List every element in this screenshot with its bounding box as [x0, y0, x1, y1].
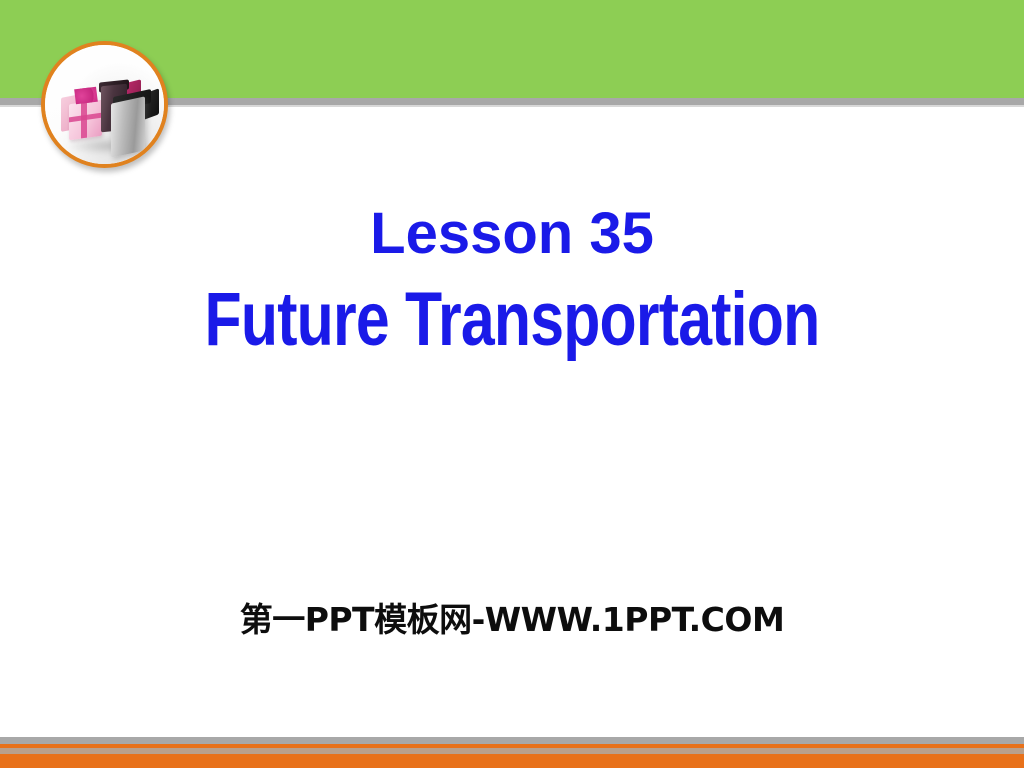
bottom-orange-band [0, 754, 1024, 768]
logo-badge-circle [41, 41, 168, 168]
gift-ribbon-vertical [81, 102, 87, 139]
lesson-number-title: Lesson 35 [0, 196, 1024, 272]
gift-bow-icon [74, 87, 98, 105]
presentation-slide: Lesson 35 Future Transportation 第一PPT模板网… [0, 0, 1024, 768]
gift-box-silver [111, 96, 145, 157]
gift-boxes-photo [45, 45, 164, 164]
title-block: Lesson 35 Future Transportation [0, 196, 1024, 368]
source-watermark: 第一PPT模板网-WWW.1PPT.COM [0, 598, 1024, 642]
lesson-topic-title: Future Transportation [102, 272, 921, 368]
bottom-gray-divider [0, 737, 1024, 744]
